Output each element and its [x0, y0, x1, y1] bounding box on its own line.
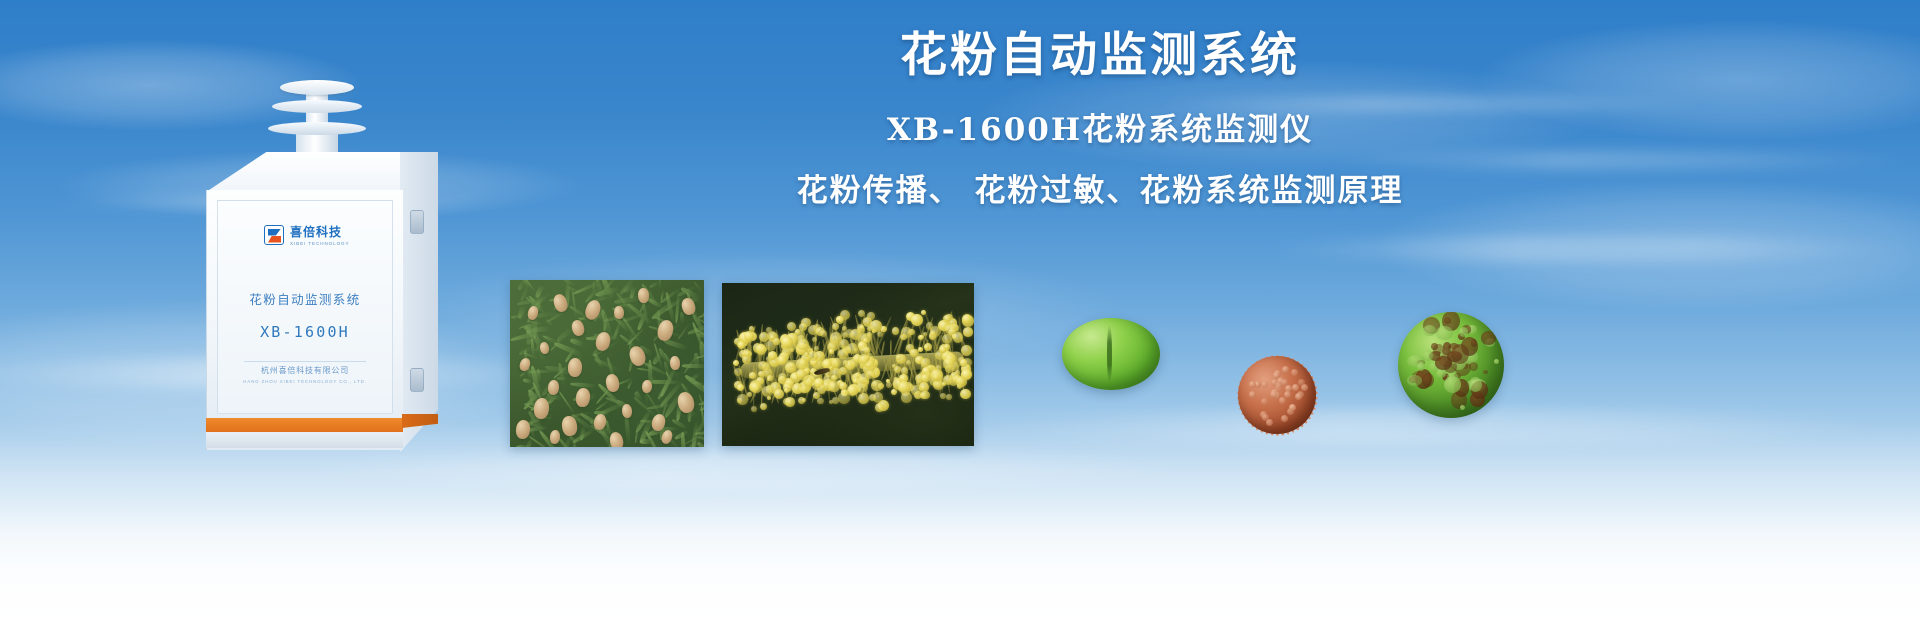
- catkin-anther: [960, 389, 971, 400]
- catkin-anther: [886, 382, 892, 388]
- catkin-anther: [926, 322, 934, 330]
- pollen-wart: [1436, 326, 1454, 340]
- catkin-anther: [766, 340, 777, 351]
- catkin-anther: [797, 339, 809, 351]
- catkin-anther: [960, 359, 968, 367]
- catkin-anther: [778, 373, 787, 382]
- catkin-anther: [858, 393, 869, 404]
- catkin-anther: [946, 394, 952, 400]
- catkin-anther: [859, 354, 869, 364]
- catkin-anther: [921, 374, 930, 383]
- catkin-anther: [943, 315, 950, 322]
- pollen-wart: [1422, 373, 1434, 387]
- catkin-anther: [829, 349, 834, 354]
- catkin-anther: [751, 406, 757, 412]
- pollen-bump: [1281, 415, 1288, 422]
- pollen-cone: [638, 288, 650, 303]
- catkin-anther: [804, 352, 809, 357]
- catkin-anther: [734, 368, 742, 376]
- catkin-anther: [919, 335, 923, 339]
- cloud-streak: [1260, 236, 1920, 262]
- catkin-anther: [920, 392, 927, 399]
- cypress-needle: [679, 312, 684, 324]
- catkin-anther: [892, 327, 900, 335]
- pollen-wart: [1483, 370, 1488, 374]
- catkin-anther: [747, 392, 752, 397]
- pollen-cone: [614, 306, 624, 320]
- catkin-anther: [785, 397, 795, 407]
- cypress-needle: [682, 364, 704, 368]
- cloud-streak: [300, 452, 1200, 488]
- catkin-anther: [737, 394, 747, 404]
- warty-green-pollen-grain: [1398, 312, 1504, 418]
- catkin-anther: [768, 351, 777, 360]
- pollen-bump: [1261, 398, 1268, 405]
- catkin-anther: [930, 330, 936, 336]
- catkin-anther: [812, 337, 817, 342]
- catkin-anther: [921, 358, 930, 367]
- catkin-anther: [901, 327, 911, 337]
- hero-banner: 花粉自动监测系统 XB-1600H花粉系统监测仪 花粉传播、 花粉过敏、花粉系统…: [0, 0, 1920, 619]
- catkin-anther: [832, 397, 839, 404]
- catkin-anther: [749, 326, 755, 332]
- catkin-filament: [890, 340, 892, 356]
- subtitle-model: XB-1600H花粉系统监测仪: [560, 106, 1640, 154]
- catkin-anther: [867, 312, 875, 320]
- catkin-anther: [802, 398, 806, 402]
- cabinet-accent-bar: [206, 418, 403, 432]
- catkin-anther: [799, 323, 807, 331]
- catkin-anther: [873, 392, 883, 402]
- stack-mid-disc: [272, 100, 362, 113]
- xibei-logo-icon: [264, 225, 284, 245]
- pollen-wart: [1469, 377, 1482, 392]
- pollen-bump: [1273, 372, 1280, 379]
- catkin-anther: [863, 338, 868, 343]
- catkin-anther: [787, 322, 796, 331]
- pollen-wart: [1423, 350, 1433, 360]
- cypress-needle: [658, 280, 661, 290]
- pollen-wart: [1469, 362, 1478, 372]
- page-title: 花粉自动监测系统: [560, 28, 1640, 84]
- subtitle-topics: 花粉传播、 花粉过敏、花粉系统监测原理: [560, 168, 1640, 214]
- pollen-bump: [1282, 366, 1289, 373]
- photo-cypress-pollen-cones: [510, 280, 704, 447]
- headline-block: 花粉自动监测系统 XB-1600H花粉系统监测仪 花粉传播、 花粉过敏、花粉系统…: [560, 28, 1640, 214]
- catkin-anther: [943, 358, 954, 369]
- instrument-cabinet: 喜倍科技 XIBEI TECHNOLOGY 花粉自动监测系统 XB-1600H …: [188, 78, 456, 428]
- catkin-anther: [870, 320, 882, 332]
- catkin-anther: [901, 392, 912, 403]
- brand-logo: 喜倍科技 XIBEI TECHNOLOGY: [264, 223, 350, 246]
- cabinet-base: [206, 432, 403, 448]
- catkin-anther: [842, 332, 848, 338]
- catkin-anther: [898, 381, 910, 393]
- catkin-anther: [770, 335, 775, 340]
- cypress-needle: [639, 439, 651, 444]
- pollen-wart: [1494, 359, 1499, 364]
- catkin-anther: [921, 310, 926, 315]
- cabinet-latch-upper: [410, 210, 424, 234]
- catkin-anther: [743, 349, 751, 357]
- pollen-wart: [1435, 356, 1451, 370]
- catkin-anther: [911, 314, 923, 326]
- catkin-anther: [830, 332, 842, 344]
- catkin-anther: [820, 330, 827, 337]
- brand-logo-text: 喜倍科技 XIBEI TECHNOLOGY: [290, 223, 350, 246]
- pollen-wart: [1417, 362, 1425, 371]
- catkin-anther: [924, 345, 928, 349]
- catkin-anther: [953, 332, 963, 342]
- green-oval-pollen-grain: [1062, 318, 1160, 390]
- cabinet-divider: [244, 361, 366, 362]
- catkin-anther: [877, 331, 883, 337]
- catkin-anther: [799, 359, 806, 366]
- pollen-wart: [1481, 331, 1497, 344]
- cabinet-product-name: 花粉自动监测系统: [218, 289, 392, 308]
- cabinet-model: XB-1600H: [218, 323, 392, 341]
- catkin-anther: [831, 358, 841, 368]
- pollen-bump: [1279, 397, 1286, 404]
- catkin-anther: [781, 336, 793, 348]
- pollen-wart: [1431, 343, 1437, 350]
- cabinet-company-en: HANG ZHOU XIBEI TECHNOLOGY CO., LTD.: [218, 379, 392, 384]
- pollen-body: [1398, 312, 1504, 418]
- catkin-anther: [875, 403, 884, 412]
- pollen-wart: [1423, 325, 1436, 337]
- catkin-anther: [738, 341, 745, 348]
- catkin-anther: [789, 363, 794, 368]
- catkin-anther: [817, 398, 823, 404]
- catkin-anther: [839, 382, 847, 390]
- stack-lower-disc: [268, 122, 366, 135]
- catkin-anther: [750, 382, 762, 394]
- cabinet-side-panel: [400, 152, 438, 452]
- cabinet-front-panel: 喜倍科技 XIBEI TECHNOLOGY 花粉自动监测系统 XB-1600H …: [206, 190, 403, 450]
- catkin-anther: [820, 385, 824, 389]
- cabinet-accent-bar-side: [402, 414, 438, 428]
- pollen-wart: [1459, 327, 1468, 336]
- cabinet-latch-lower: [410, 368, 424, 392]
- pollen-wart: [1460, 405, 1466, 410]
- catkin-anther: [858, 310, 865, 317]
- pollen-cone: [670, 356, 681, 370]
- catkin-anther: [892, 364, 896, 368]
- catkin-anther: [774, 389, 784, 399]
- catkin-anther: [800, 386, 807, 393]
- pollen-wart: [1451, 344, 1469, 364]
- brand-name-en: XIBEI TECHNOLOGY: [290, 241, 350, 246]
- catkin-anther: [940, 393, 946, 399]
- catkin-anther: [860, 325, 864, 329]
- stack-cap-disc: [280, 80, 354, 95]
- cabinet-company-cn: 杭州喜倍科技有限公司: [218, 365, 392, 376]
- brand-name-cn: 喜倍科技: [290, 223, 350, 240]
- cabinet-front-inset: 喜倍科技 XIBEI TECHNOLOGY 花粉自动监测系统 XB-1600H …: [217, 200, 393, 414]
- catkin-anther: [744, 331, 754, 341]
- spiky-rust-pollen-grain: [1222, 340, 1332, 450]
- horizon-haze-soft: [0, 500, 1920, 619]
- photo-catkin-closeup: [722, 283, 974, 446]
- catkin-anther: [906, 360, 911, 365]
- catkin-anther: [963, 327, 973, 337]
